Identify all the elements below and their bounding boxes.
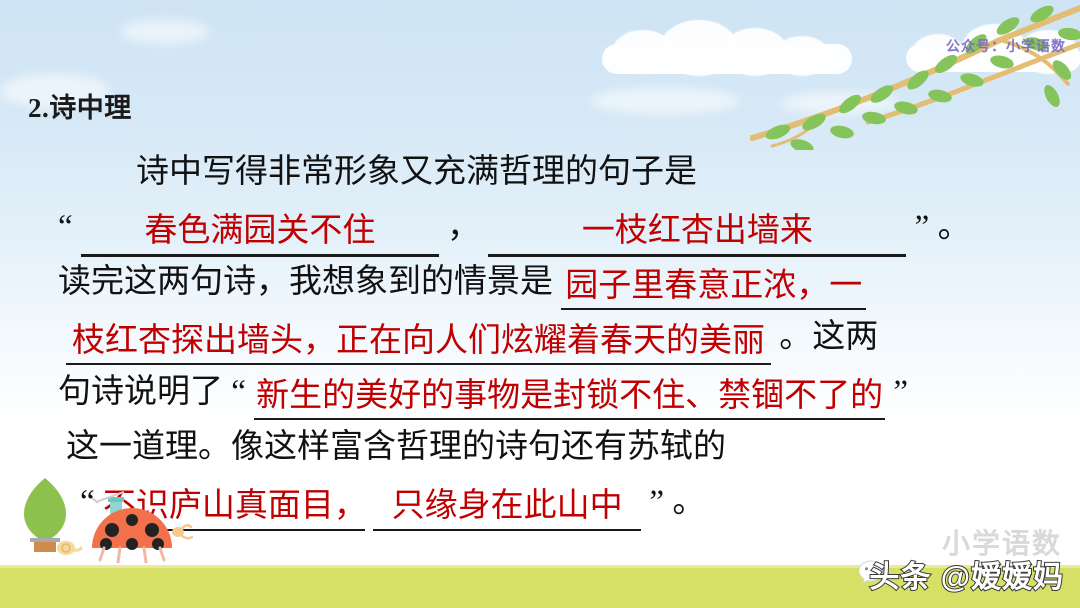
line4-tail: 。这两 — [779, 319, 878, 355]
meaning-prompt: 句诗说明了 — [58, 374, 223, 410]
answer-blank-7[interactable]: 只缘身在此山中 — [373, 483, 641, 531]
answer-line-6: 这一道理。像这样富含哲理的诗句还有苏轼的 — [58, 421, 1058, 476]
period-1: 。 — [938, 209, 971, 245]
close-quote-1: ” — [915, 209, 930, 245]
page-title: 2.诗中理 — [28, 86, 132, 125]
watermark-top-right: 公众号：小学语数 — [946, 36, 1066, 56]
tree-icon — [24, 478, 66, 552]
answer-blank-3[interactable]: 园子里春意正浓，一 — [561, 264, 866, 310]
answer-line-3: 读完这两句诗，我想象到的情景是 园子里春意正浓，一 — [58, 256, 1058, 311]
open-quote-2: “ — [231, 374, 246, 410]
related-poem-prompt: 这一道理。像这样富含哲理的诗句还有苏轼的 — [66, 429, 726, 465]
bottom-left-decorations — [0, 470, 300, 580]
close-quote-3: ” — [649, 484, 664, 520]
watermark-bottom-right: 头条 @嫒嫒妈 — [869, 552, 1064, 596]
imagination-prompt: 读完这两句诗，我想象到的情景是 — [58, 264, 553, 300]
question-line-1: 诗中写得非常形象又充满哲理的句子是 — [58, 146, 1058, 201]
answer-blank-2[interactable]: 一枝红杏出墙来 — [488, 208, 906, 257]
answer-blank-5[interactable]: 新生的美好的事物是封锁不住、禁锢不了的 — [254, 374, 885, 420]
answer-blank-1[interactable]: 春色满园关不住 — [81, 208, 439, 257]
snail-icon — [57, 541, 81, 555]
period-2: 。 — [672, 484, 705, 520]
branch-decoration — [750, 0, 1080, 150]
answer-line-5: 句诗说明了 “ 新生的美好的事物是封锁不住、禁锢不了的 ” — [58, 366, 1058, 421]
branch-icon — [750, 0, 1080, 150]
question-prompt: 诗中写得非常形象又充满哲理的句子是 — [136, 154, 697, 190]
comma-separator-1: ， — [447, 209, 480, 245]
open-quote-1: “ — [58, 209, 73, 245]
slide-canvas: 公众号：小学语数 2.诗中理 诗中写得非常形象又充满哲理的句子是 “ 春色满园关… — [0, 0, 1080, 608]
answer-line-4: 枝红杏探出墙头，正在向人们炫耀着春天的美丽 。这两 — [58, 311, 1058, 366]
ladybug-icon — [92, 492, 192, 562]
answer-blank-4[interactable]: 枝红杏探出墙头，正在向人们炫耀着春天的美丽 — [66, 319, 771, 365]
close-quote-2: ” — [893, 374, 908, 410]
answer-line-2: “ 春色满园关不住 ， 一枝红杏出墙来 ” 。 — [58, 201, 1058, 256]
